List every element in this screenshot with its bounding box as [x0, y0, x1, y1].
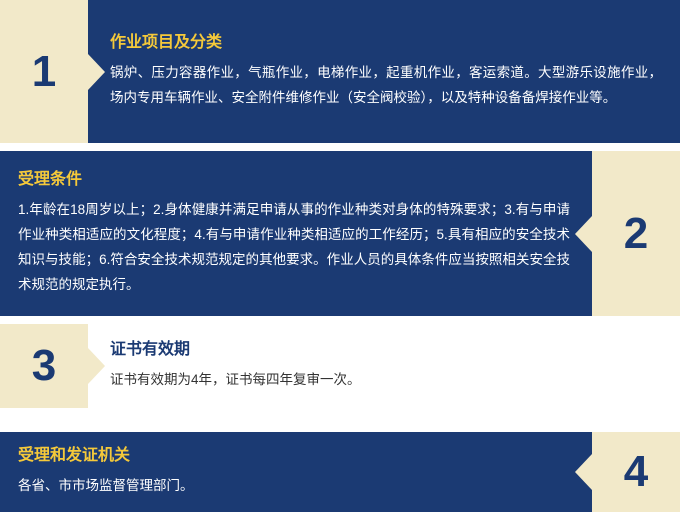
info-block-1: 1 作业项目及分类 锅炉、压力容器作业，气瓶作业，电梯作业，起重机作业，客运索道… [0, 0, 680, 143]
step-body-4: 各省、市市场监督管理部门。 [18, 474, 570, 499]
step-number-2: 2 [624, 212, 648, 256]
step-title-1: 作业项目及分类 [110, 32, 662, 54]
step-title-4: 受理和发证机关 [18, 445, 570, 467]
arrow-right-icon-1 [88, 54, 105, 90]
step-title-2: 受理条件 [18, 169, 570, 191]
info-block-2: 受理条件 1.年龄在18周岁以上；2.身体健康并满足申请从事的作业种类对身体的特… [0, 151, 680, 316]
step-number-1: 1 [32, 50, 56, 94]
step-content-1: 作业项目及分类 锅炉、压力容器作业，气瓶作业，电梯作业，起重机作业，客运索道。大… [88, 0, 680, 143]
step-number-box-4: 4 [592, 432, 680, 512]
step-title-3: 证书有效期 [110, 339, 662, 361]
arrow-right-icon-3 [88, 348, 105, 384]
arrow-left-icon-4 [575, 454, 592, 490]
info-block-4: 受理和发证机关 各省、市市场监督管理部门。 4 [0, 432, 680, 512]
step-number-box-2: 2 [592, 151, 680, 316]
step-body-3: 证书有效期为4年，证书每四年复审一次。 [110, 368, 662, 393]
step-number-box-1: 1 [0, 0, 88, 143]
infographic-page: 1 作业项目及分类 锅炉、压力容器作业，气瓶作业，电梯作业，起重机作业，客运索道… [0, 0, 680, 512]
step-content-3: 证书有效期 证书有效期为4年，证书每四年复审一次。 [88, 324, 680, 408]
step-content-4: 受理和发证机关 各省、市市场监督管理部门。 [0, 432, 592, 512]
step-number-box-3: 3 [0, 324, 88, 408]
step-number-3: 3 [32, 344, 56, 388]
step-content-2: 受理条件 1.年龄在18周岁以上；2.身体健康并满足申请从事的作业种类对身体的特… [0, 151, 592, 316]
arrow-left-icon-2 [575, 216, 592, 252]
info-block-3: 3 证书有效期 证书有效期为4年，证书每四年复审一次。 [0, 324, 680, 408]
step-number-4: 4 [624, 450, 648, 494]
step-body-2: 1.年龄在18周岁以上；2.身体健康并满足申请从事的作业种类对身体的特殊要求；3… [18, 198, 570, 298]
step-body-1: 锅炉、压力容器作业，气瓶作业，电梯作业，起重机作业，客运索道。大型游乐设施作业，… [110, 61, 662, 111]
